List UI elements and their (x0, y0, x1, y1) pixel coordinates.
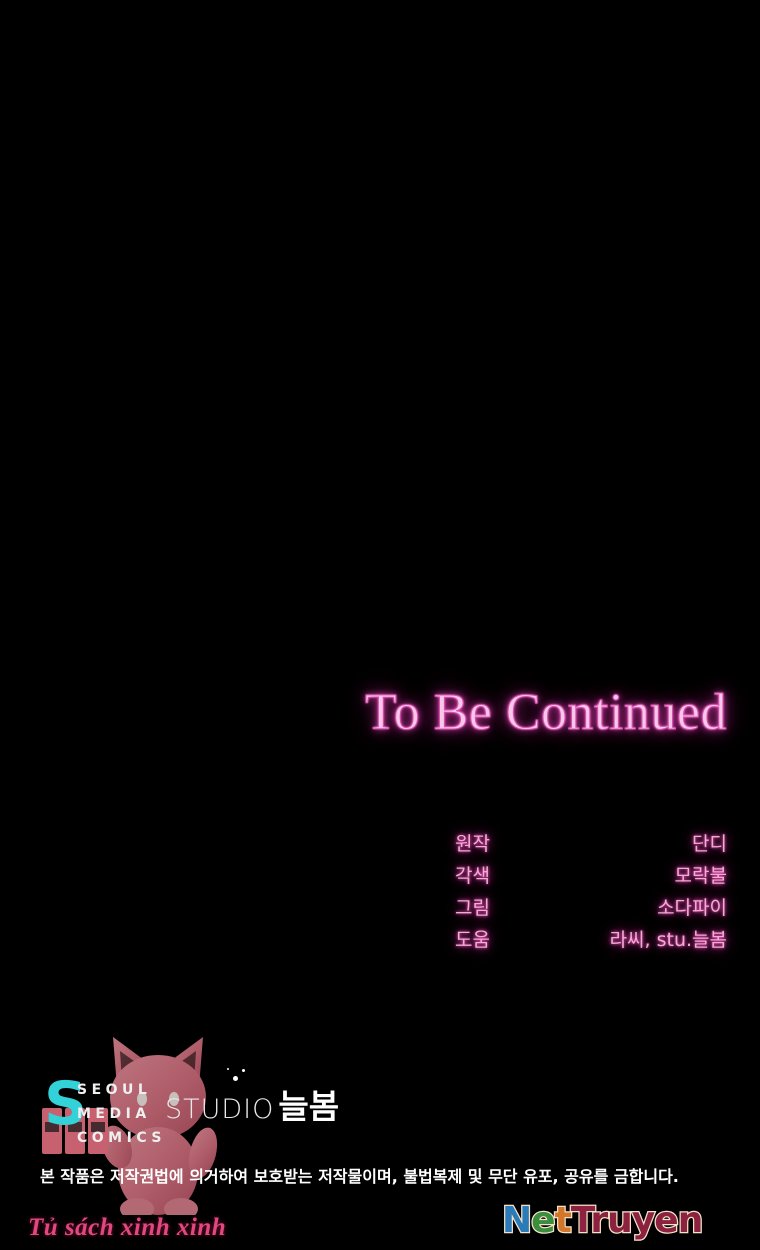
logo-letter: r (590, 1200, 607, 1241)
credit-row: 그림 소다파이 (455, 892, 727, 924)
sparkle-icon (242, 1069, 245, 1072)
credit-person-name: 소다파이 (657, 892, 727, 924)
studio-branding: STUDIO늘봄 (165, 1080, 339, 1128)
logo-letter: T (571, 1200, 591, 1241)
credit-role-label: 도움 (455, 924, 490, 956)
sparkle-icon (233, 1076, 238, 1081)
credit-person-name: 단디 (692, 828, 727, 860)
logo-letter: e (531, 1200, 554, 1241)
sparkle-icon (227, 1068, 229, 1070)
credit-person-name: 모락불 (675, 860, 727, 892)
publisher-line-media: MEDIA (77, 1106, 151, 1122)
scanlation-watermark: Tủ sách xinh xinh (28, 1214, 226, 1242)
studio-name: 늘봄 (278, 1087, 339, 1126)
credit-row: 원작 단디 (455, 828, 727, 860)
publisher-line-seoul: SEOUL (77, 1082, 151, 1098)
credit-person-name: 라씨, stu.늘봄 (610, 924, 727, 956)
credit-row: 각색 모락불 (455, 860, 727, 892)
logo-letter: N (502, 1200, 531, 1241)
credit-role-label: 각색 (455, 860, 490, 892)
copyright-notice: 본 작품은 저작권법에 의거하여 보호받는 저작물이며, 불법복제 및 무단 유… (40, 1163, 730, 1187)
credit-role-label: 그림 (455, 892, 490, 924)
credits-list: 원작 단디 각색 모락불 그림 소다파이 도움 라씨, stu.늘봄 (455, 828, 727, 956)
publisher-line-comics: COMICS (77, 1130, 166, 1146)
logo-letter: n (678, 1200, 703, 1241)
logo-letter: u (607, 1200, 632, 1241)
logo-letter: t (555, 1200, 571, 1241)
studio-label: STUDIO (165, 1094, 274, 1125)
to-be-continued-container: To Be Continued (0, 686, 727, 741)
logo-letter: e (654, 1200, 677, 1241)
nettruyen-logo[interactable]: NetTruyen (502, 1203, 702, 1239)
logo-letter: y (632, 1200, 654, 1241)
credit-row: 도움 라씨, stu.늘봄 (455, 924, 727, 956)
comic-page-final-panel: To Be Continued 원작 단디 각색 모락불 그림 소다파이 도움 … (0, 0, 760, 1250)
to-be-continued-text: To Be Continued (365, 686, 727, 741)
credit-role-label: 원작 (455, 828, 490, 860)
